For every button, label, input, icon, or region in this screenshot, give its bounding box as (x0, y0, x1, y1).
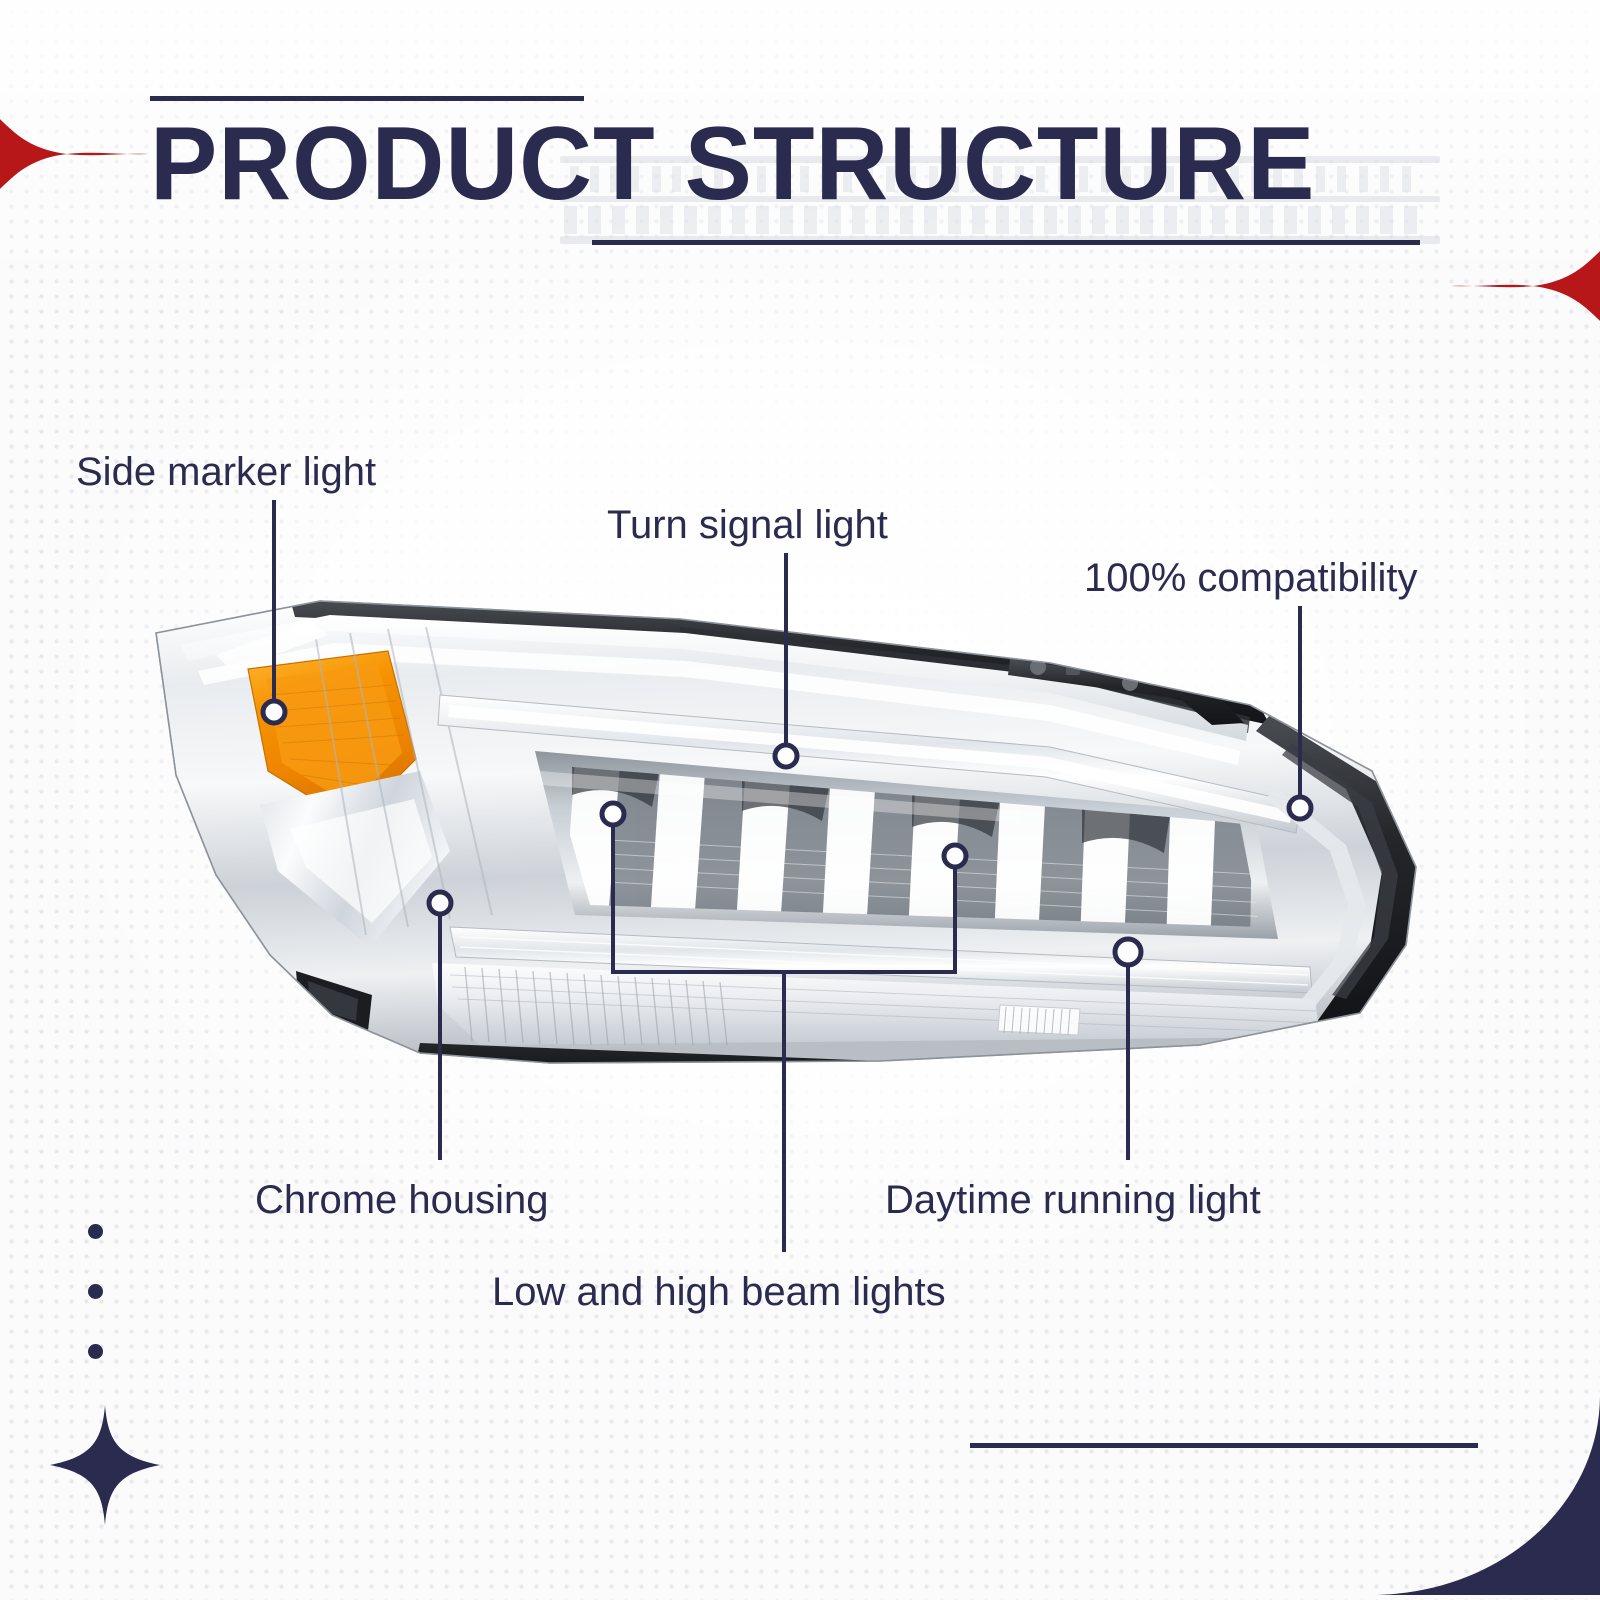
callout-label-turn-signal-light: Turn signal light (607, 505, 888, 545)
decor-dot (88, 1344, 103, 1359)
title-rule-bottom (592, 240, 1420, 245)
callout-label-daytime-running-light: Daytime running light (885, 1180, 1261, 1220)
title-rule-top (150, 96, 584, 101)
callout-label-chrome-housing: Chrome housing (255, 1180, 549, 1220)
sparkle-icon (50, 1405, 160, 1530)
infographic-canvas: PRODUCT STRUCTURE (0, 0, 1600, 1600)
header: PRODUCT STRUCTURE (0, 0, 1600, 300)
decor-dot (88, 1224, 103, 1239)
product-image-headlight (120, 575, 1450, 1095)
callout-label-side-marker-light: Side marker light (76, 452, 376, 492)
decor-dot-column (88, 1224, 103, 1404)
decor-dot (88, 1284, 103, 1299)
bottom-rule (970, 1443, 1478, 1448)
corner-navy-curve-icon (1370, 1395, 1600, 1600)
callout-label-low-high-beam: Low and high beam lights (492, 1272, 946, 1312)
page-title: PRODUCT STRUCTURE (150, 106, 1411, 222)
